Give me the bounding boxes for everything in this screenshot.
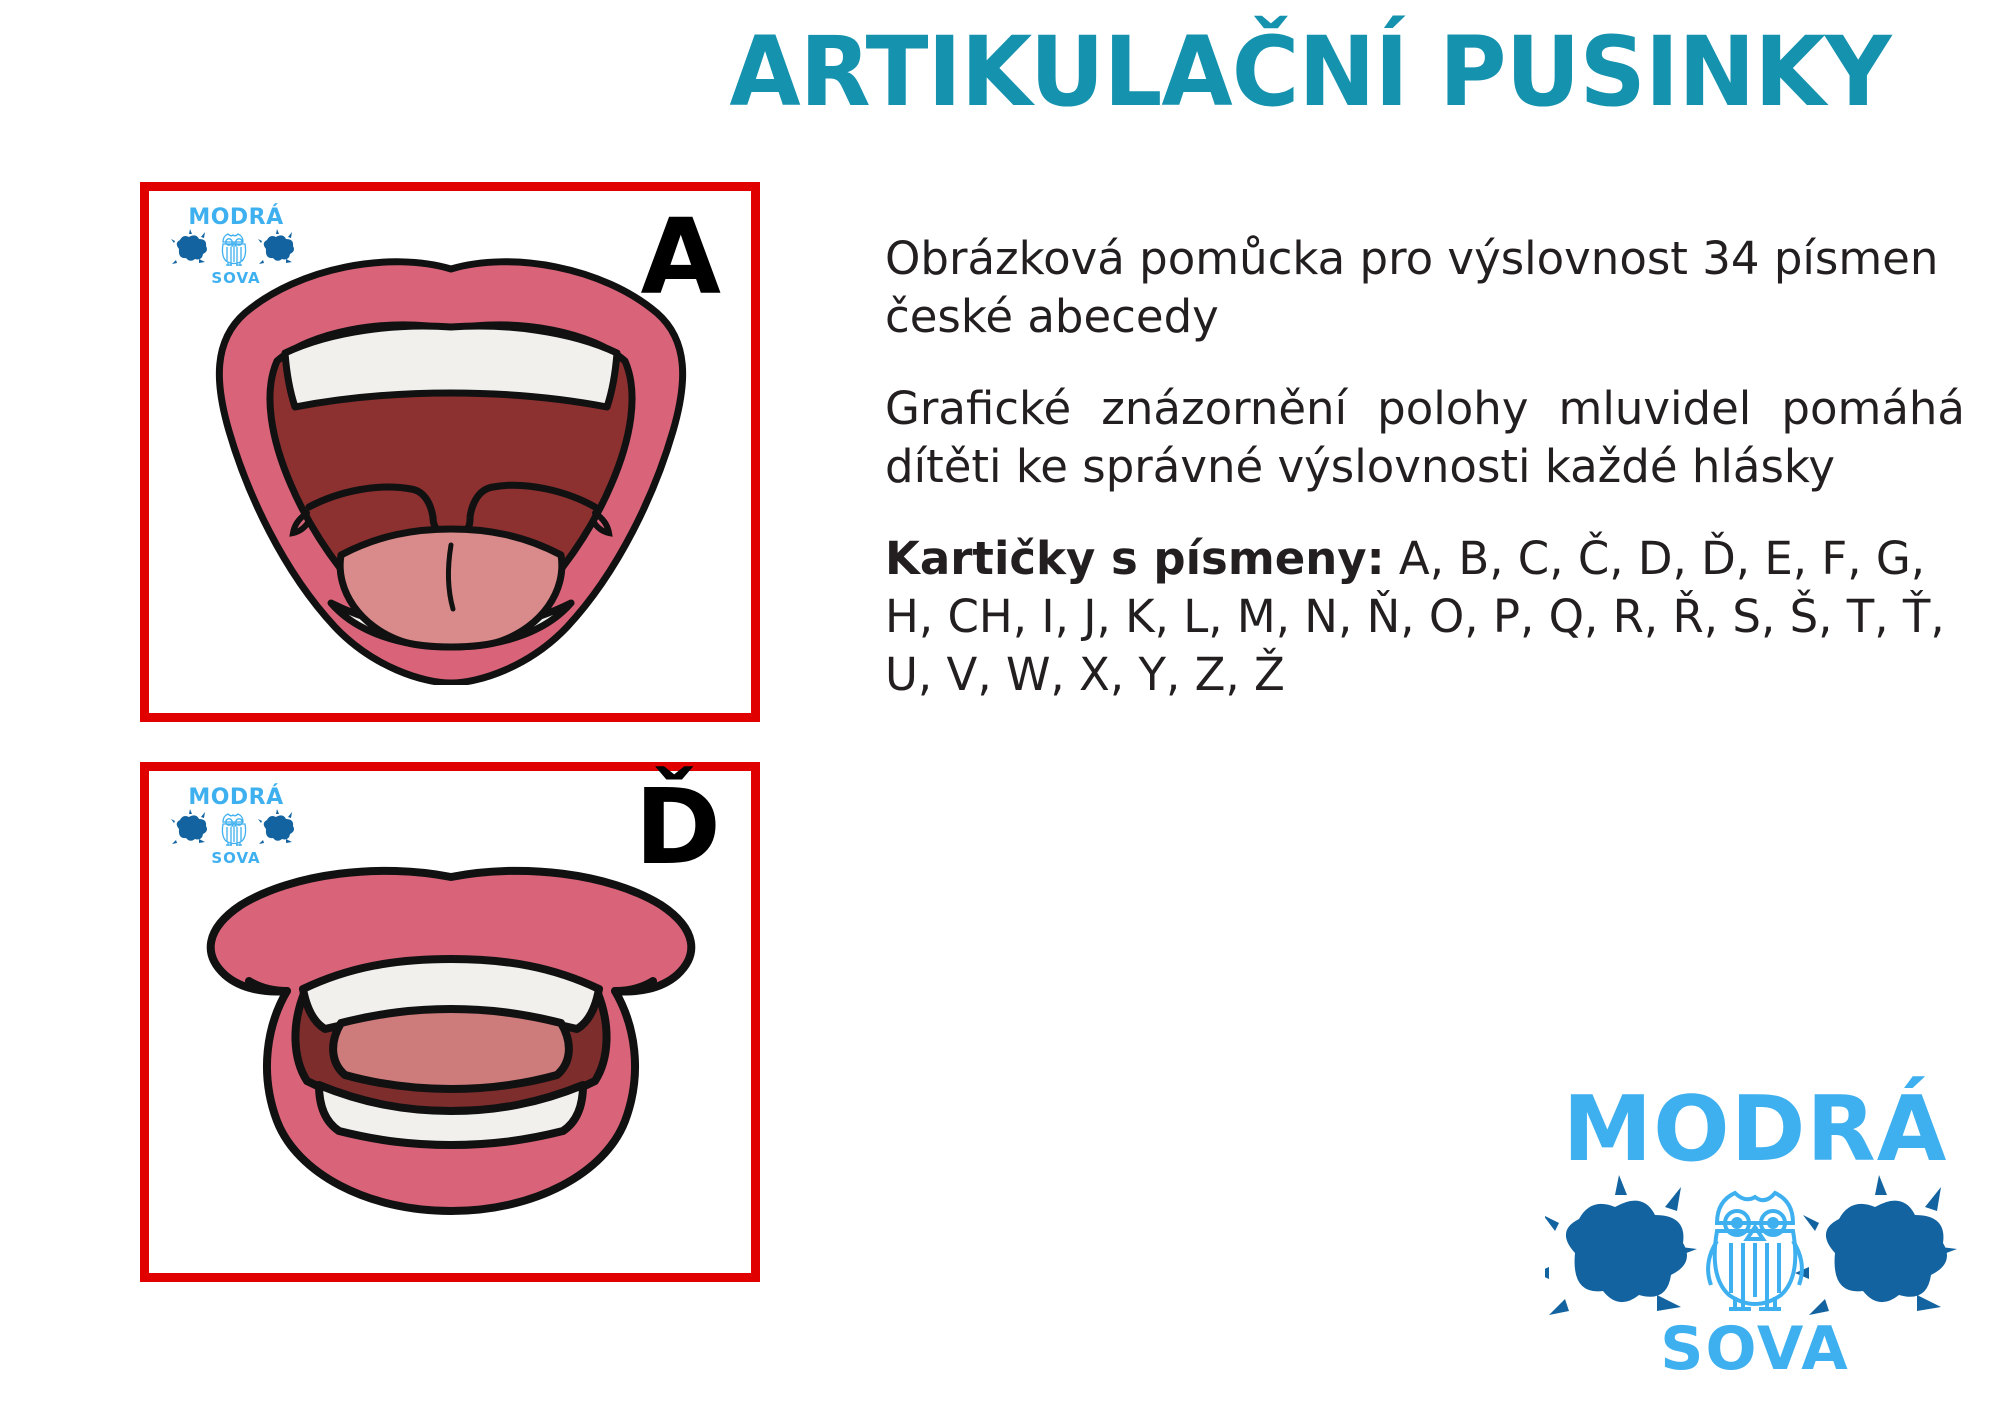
owl-with-blots-icon [171, 809, 301, 849]
description-column: Obrázková pomůcka pro výslovnost 34 písm… [885, 230, 1965, 704]
mouth-illustration-d [191, 859, 711, 1239]
ink-blot-icon [1545, 1175, 1697, 1315]
brand-sova-text: SOVA [1545, 1319, 1965, 1379]
page-title: ARTIKULAČNÍ PUSINKY [667, 22, 1953, 123]
letter-cards-label: Kartičky s písmeny: [885, 532, 1385, 585]
poster-page: ARTIKULAČNÍ PUSINKY MODRÁ [0, 0, 2000, 1414]
ink-blot-icon [1795, 1175, 1957, 1315]
explanation-paragraph: Grafické znázornění polohy mluvidel pomá… [885, 380, 1965, 496]
letter-card-d[interactable]: MODRÁ [140, 762, 760, 1282]
owl-with-blots-icon [1545, 1175, 1965, 1325]
brand-logo: MODRÁ [1545, 1085, 1965, 1385]
logo-modra-text: MODRÁ [171, 787, 301, 809]
mouth-illustration-a [211, 255, 691, 685]
letter-card-a[interactable]: MODRÁ [140, 182, 760, 722]
letter-cards-list: Kartičky s písmeny: A, B, C, Č, D, Ď, E,… [885, 530, 1965, 704]
brand-modra-text: MODRÁ [1545, 1085, 1965, 1175]
intro-paragraph: Obrázková pomůcka pro výslovnost 34 písm… [885, 230, 1965, 346]
logo-modra-text: MODRÁ [171, 207, 301, 229]
owl-icon [1708, 1193, 1802, 1311]
